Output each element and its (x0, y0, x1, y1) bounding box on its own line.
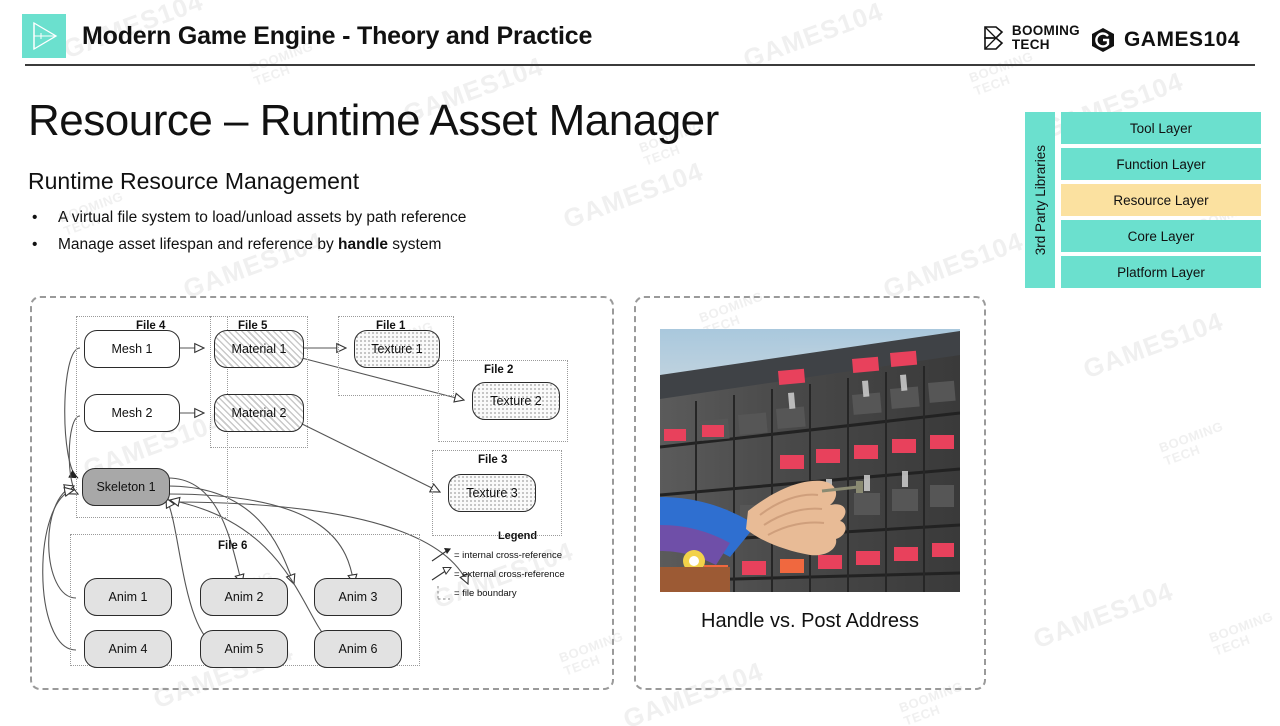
bullet-text: Manage asset lifespan and reference by h… (58, 236, 441, 254)
node-anim-6[interactable]: Anim 6 (314, 630, 402, 668)
legend-title: Legend (430, 530, 605, 542)
dashed-line-icon (430, 586, 454, 600)
hollow-arrow-icon (430, 567, 454, 581)
layer-function[interactable]: Function Layer (1061, 148, 1261, 180)
asset-reference-diagram: File 4 File 5 File 1 File 2 File 3 File … (32, 298, 612, 688)
hand-opening-mailbox-photo (660, 329, 960, 592)
legend-item-internal: = internal cross-reference (430, 548, 605, 562)
node-mesh-1[interactable]: Mesh 1 (84, 330, 180, 368)
watermark-games: GAMES104 (1029, 576, 1177, 655)
filled-arrow-icon (430, 548, 454, 562)
file-label-file6: File 6 (218, 540, 247, 552)
triangle-wireframe-icon (22, 14, 66, 58)
watermark-booming: BOOMINGTECH (1157, 419, 1229, 468)
node-material-2[interactable]: Material 2 (214, 394, 304, 432)
booming-tech-logo: BOOMING TECH (983, 24, 1080, 51)
header-divider (25, 64, 1255, 66)
legend-text: = file boundary (454, 588, 517, 599)
node-mesh-2[interactable]: Mesh 2 (84, 394, 180, 432)
file-label-file2: File 2 (484, 364, 513, 376)
booming-label-line2: TECH (1012, 38, 1080, 52)
asset-graph-panel: File 4 File 5 File 1 File 2 File 3 File … (30, 296, 614, 690)
node-anim-4[interactable]: Anim 4 (84, 630, 172, 668)
engine-layer-stack: 3rd Party Libraries Tool Layer Function … (1025, 112, 1261, 288)
bullet-dot: • (28, 209, 58, 227)
section-subtitle: Runtime Resource Management (28, 168, 359, 195)
list-item: • Manage asset lifespan and reference by… (28, 236, 728, 254)
node-anim-2[interactable]: Anim 2 (200, 578, 288, 616)
third-party-libraries-column: 3rd Party Libraries (1025, 112, 1055, 288)
slide-header: Modern Game Engine - Theory and Practice… (0, 0, 1280, 72)
booming-b-icon (983, 25, 1007, 51)
list-item: • A virtual file system to load/unload a… (28, 209, 728, 227)
node-anim-5[interactable]: Anim 5 (200, 630, 288, 668)
node-anim-3[interactable]: Anim 3 (314, 578, 402, 616)
legend-item-external: = external cross-reference (430, 567, 605, 581)
third-party-label: 3rd Party Libraries (1033, 145, 1048, 255)
file-label-file3: File 3 (478, 454, 507, 466)
watermark-games: GAMES104 (879, 226, 1027, 305)
slide-root: GAMES104 GAMES104 GAMES104 GAMES104 GAME… (0, 0, 1280, 726)
booming-label-line1: BOOMING (1012, 24, 1080, 38)
layer-boxes: Tool Layer Function Layer Resource Layer… (1061, 112, 1261, 288)
node-anim-1[interactable]: Anim 1 (84, 578, 172, 616)
handle-analogy-panel: Handle vs. Post Address (634, 296, 986, 690)
legend-item-boundary: = file boundary (430, 586, 605, 600)
bullet-dot: • (28, 236, 58, 254)
diagram-legend: Legend = internal cross-reference (430, 530, 605, 605)
legend-text: = external cross-reference (454, 569, 565, 580)
layer-tool[interactable]: Tool Layer (1061, 112, 1261, 144)
node-material-1[interactable]: Material 1 (214, 330, 304, 368)
node-skeleton-1[interactable]: Skeleton 1 (82, 468, 170, 506)
page-title-header: Modern Game Engine - Theory and Practice (82, 22, 592, 51)
watermark-booming: BOOMINGTECH (1207, 609, 1279, 658)
bullet-emphasis: handle (338, 236, 388, 253)
bullet-list: • A virtual file system to load/unload a… (28, 209, 728, 263)
node-texture-3[interactable]: Texture 3 (448, 474, 536, 512)
layer-resource[interactable]: Resource Layer (1061, 184, 1261, 216)
layer-platform[interactable]: Platform Layer (1061, 256, 1261, 288)
games104-logo: GAMES104 (1090, 27, 1240, 53)
photo-caption: Handle vs. Post Address (636, 610, 984, 633)
watermark-games: GAMES104 (1079, 306, 1227, 385)
games-g-icon (1090, 27, 1116, 53)
games104-label: GAMES104 (1124, 28, 1240, 52)
legend-text: = internal cross-reference (454, 550, 562, 561)
layer-core[interactable]: Core Layer (1061, 220, 1261, 252)
bullet-text: A virtual file system to load/unload ass… (58, 209, 466, 227)
node-texture-2[interactable]: Texture 2 (472, 382, 560, 420)
page-title: Resource – Runtime Asset Manager (28, 96, 719, 146)
node-texture-1[interactable]: Texture 1 (354, 330, 440, 368)
